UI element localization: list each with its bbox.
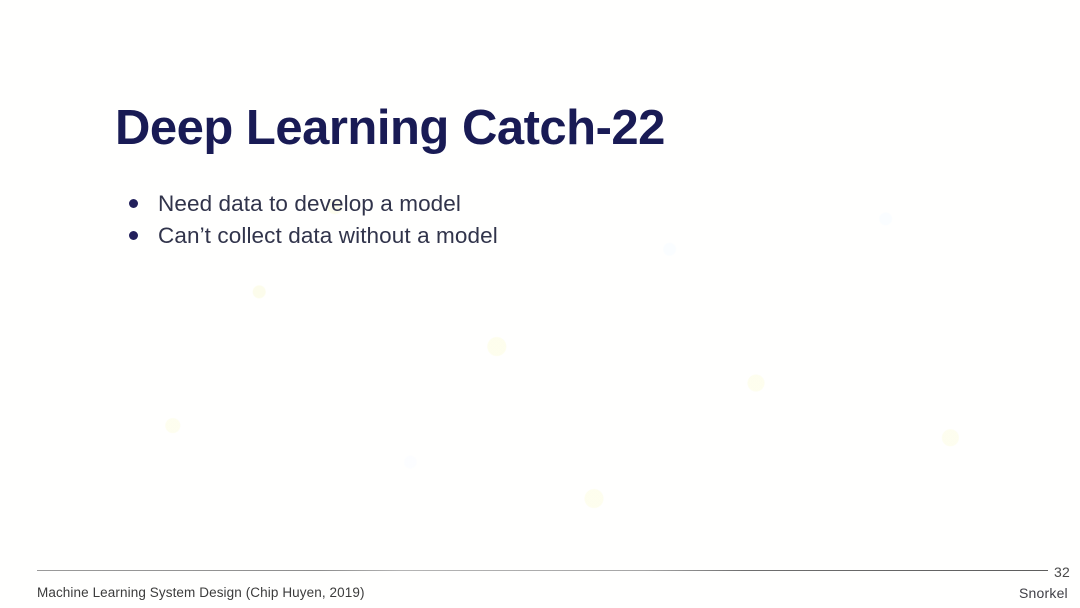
list-item-label: Need data to develop a model: [158, 188, 461, 220]
background-texture: [0, 0, 1080, 608]
bullet-list: Need data to develop a model Can’t colle…: [122, 188, 498, 252]
footer-divider: [37, 570, 1048, 571]
list-item: Can’t collect data without a model: [122, 220, 498, 252]
page-number: 32: [1054, 564, 1070, 580]
presentation-slide: Deep Learning Catch-22 Need data to deve…: [0, 0, 1080, 608]
snorkel-logo: Snorkel: [1019, 585, 1068, 601]
footer-caption: Machine Learning System Design (Chip Huy…: [37, 585, 365, 600]
page-title: Deep Learning Catch-22: [115, 101, 665, 156]
list-item: Need data to develop a model: [122, 188, 498, 220]
list-item-label: Can’t collect data without a model: [158, 220, 498, 252]
